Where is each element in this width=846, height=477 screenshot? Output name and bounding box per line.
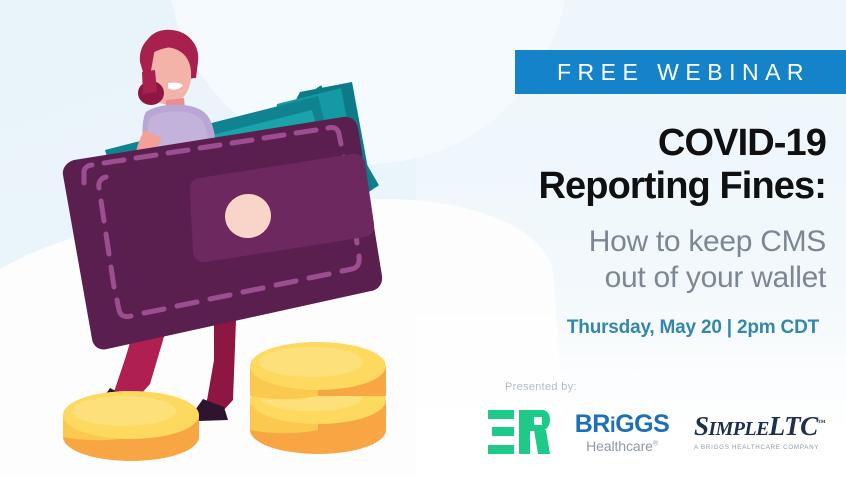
- free-webinar-label: FREE WEBINAR: [551, 59, 810, 86]
- subhead-line-2: out of your wallet: [470, 260, 826, 296]
- single-coin: [63, 391, 199, 461]
- subhead-line-1: How to keep CMS: [470, 224, 826, 260]
- briggs-wordmark: BRiGGS: [570, 412, 674, 437]
- page-subtitle: How to keep CMS out of your wallet: [470, 224, 826, 296]
- webinar-datetime: Thursday, May 20 | 2pm CDT: [470, 317, 819, 339]
- webinar-promo-graphic: FREE WEBINAR COVID-19 Reporting Fines: H…: [0, 0, 846, 477]
- briggs-tagline: Healthcare®: [570, 439, 674, 453]
- coin-stack: [250, 342, 386, 454]
- simpleltc-logo: SIMPLELTC™ A BRIGGS HEALTHCARE COMPANY: [694, 413, 816, 451]
- back-leg: [206, 320, 236, 412]
- headline-line-2: Reporting Fines:: [470, 165, 826, 208]
- er-logo: [488, 410, 550, 454]
- content-column: FREE WEBINAR COVID-19 Reporting Fines: H…: [470, 0, 846, 477]
- presenter-logos: BRiGGS Healthcare® SIMPLELTC™ A BRIGGS H…: [488, 404, 828, 460]
- wallet-illustration: [0, 0, 480, 477]
- simpleltc-wordmark: SIMPLELTC™: [694, 413, 816, 440]
- simpleltc-tagline: A BRIGGS HEALTHCARE COMPANY: [694, 445, 816, 451]
- briggs-healthcare-logo: BRiGGS Healthcare®: [570, 412, 674, 453]
- free-webinar-banner: FREE WEBINAR: [515, 50, 846, 94]
- headline-line-1: COVID-19: [470, 122, 826, 165]
- page-title: COVID-19 Reporting Fines:: [470, 122, 826, 208]
- presented-by-label: Presented by:: [505, 381, 577, 393]
